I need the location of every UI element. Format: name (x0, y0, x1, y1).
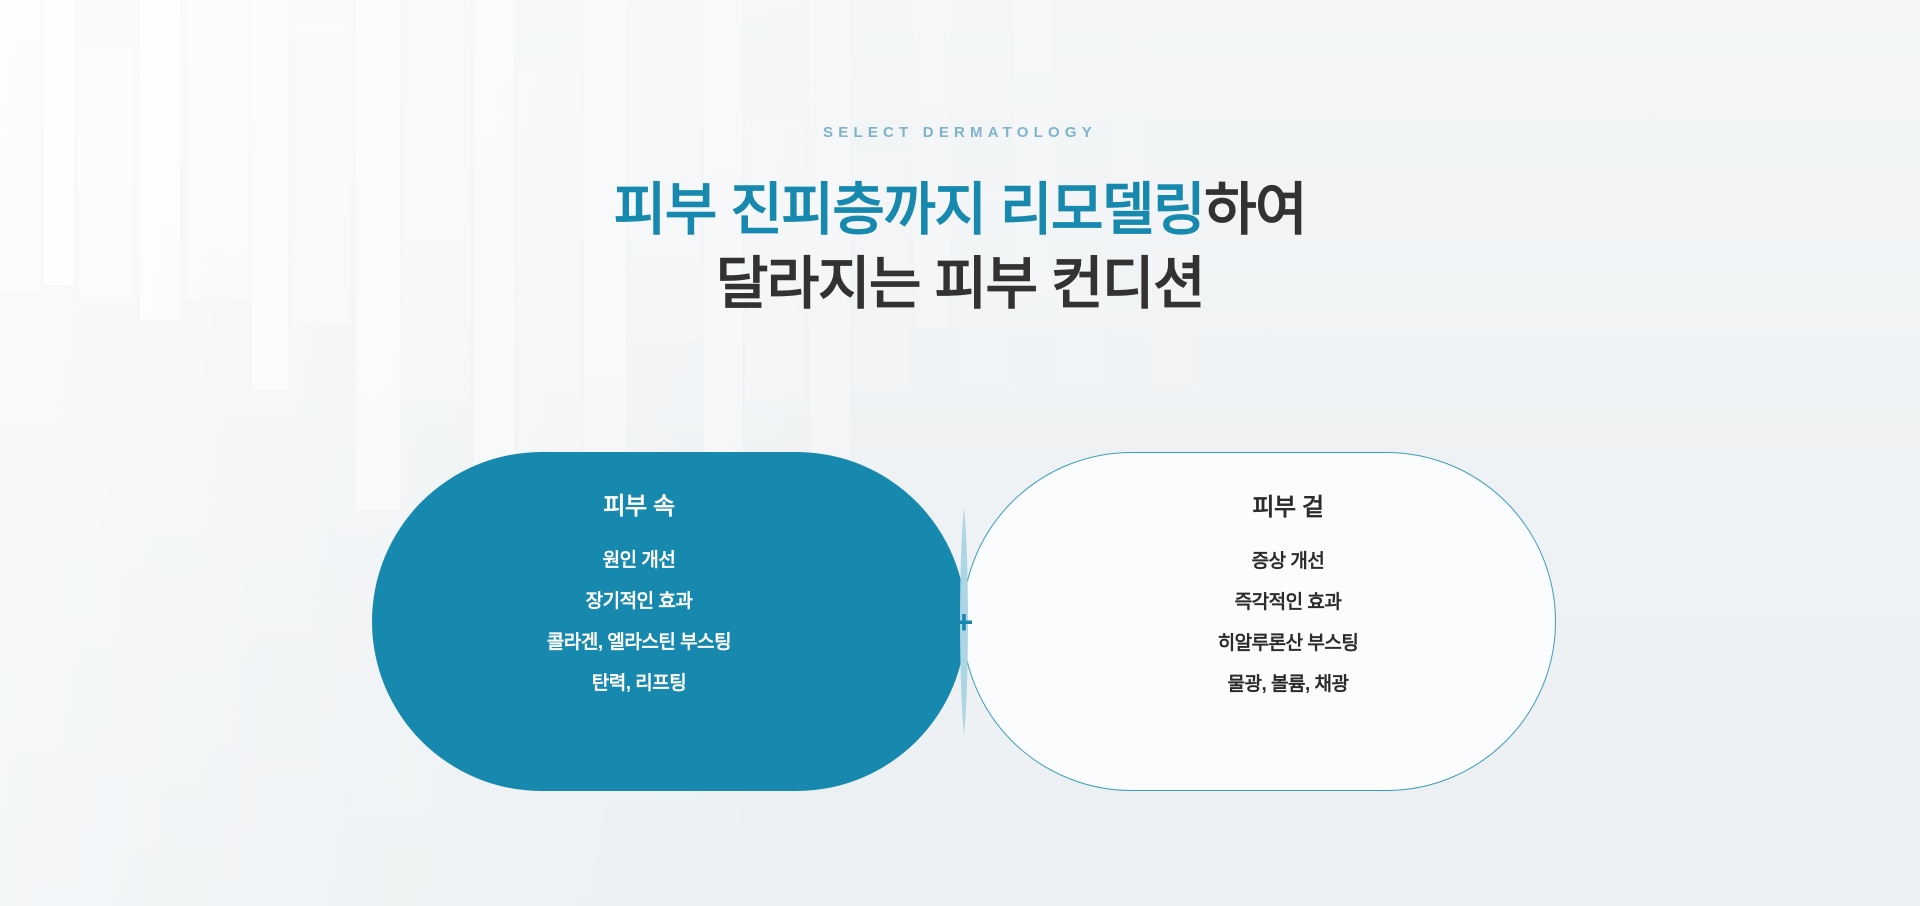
eyebrow-label: SELECT DERMATOLOGY (0, 125, 1920, 140)
list-item: 히알루론산 부스팅 (1218, 634, 1359, 653)
list-item: 물광, 볼륨, 채광 (1218, 675, 1359, 694)
list-item: 원인 개선 (547, 551, 731, 570)
plus-icon: + (947, 605, 981, 639)
headline-line-1: 피부 진피층까지 리모델링하여 (0, 173, 1920, 247)
venn-left-circle: 피부 속 원인 개선 장기적인 효과 콜라겐, 엘라스틴 부스팅 탄력, 리프팅 (372, 452, 966, 791)
venn-right-list: 증상 개선 즉각적인 효과 히알루론산 부스팅 물광, 볼륨, 채광 (1218, 552, 1359, 694)
headline-accent-text: 피부 진피층까지 리모델링 (614, 178, 1204, 242)
headline-line-2: 달라지는 피부 컨디션 (0, 247, 1920, 321)
list-item: 증상 개선 (1218, 552, 1359, 571)
venn-left-title: 피부 속 (603, 495, 674, 519)
page-title: 피부 진피층까지 리모델링하여 달라지는 피부 컨디션 (0, 173, 1920, 321)
list-item: 즉각적인 효과 (1218, 593, 1359, 612)
list-item: 장기적인 효과 (547, 592, 731, 611)
list-item: 콜라겐, 엘라스틴 부스팅 (547, 633, 731, 652)
venn-right-title: 피부 겉 (1252, 496, 1323, 520)
headline-plain-text: 하여 (1204, 178, 1306, 242)
venn-right-circle: 피부 겉 증상 개선 즉각적인 효과 히알루론산 부스팅 물광, 볼륨, 채광 (962, 452, 1556, 791)
venn-left-list: 원인 개선 장기적인 효과 콜라겐, 엘라스틴 부스팅 탄력, 리프팅 (547, 551, 731, 693)
list-item: 탄력, 리프팅 (547, 674, 731, 693)
hero-section: SELECT DERMATOLOGY 피부 진피층까지 리모델링하여 달라지는 … (0, 0, 1920, 321)
